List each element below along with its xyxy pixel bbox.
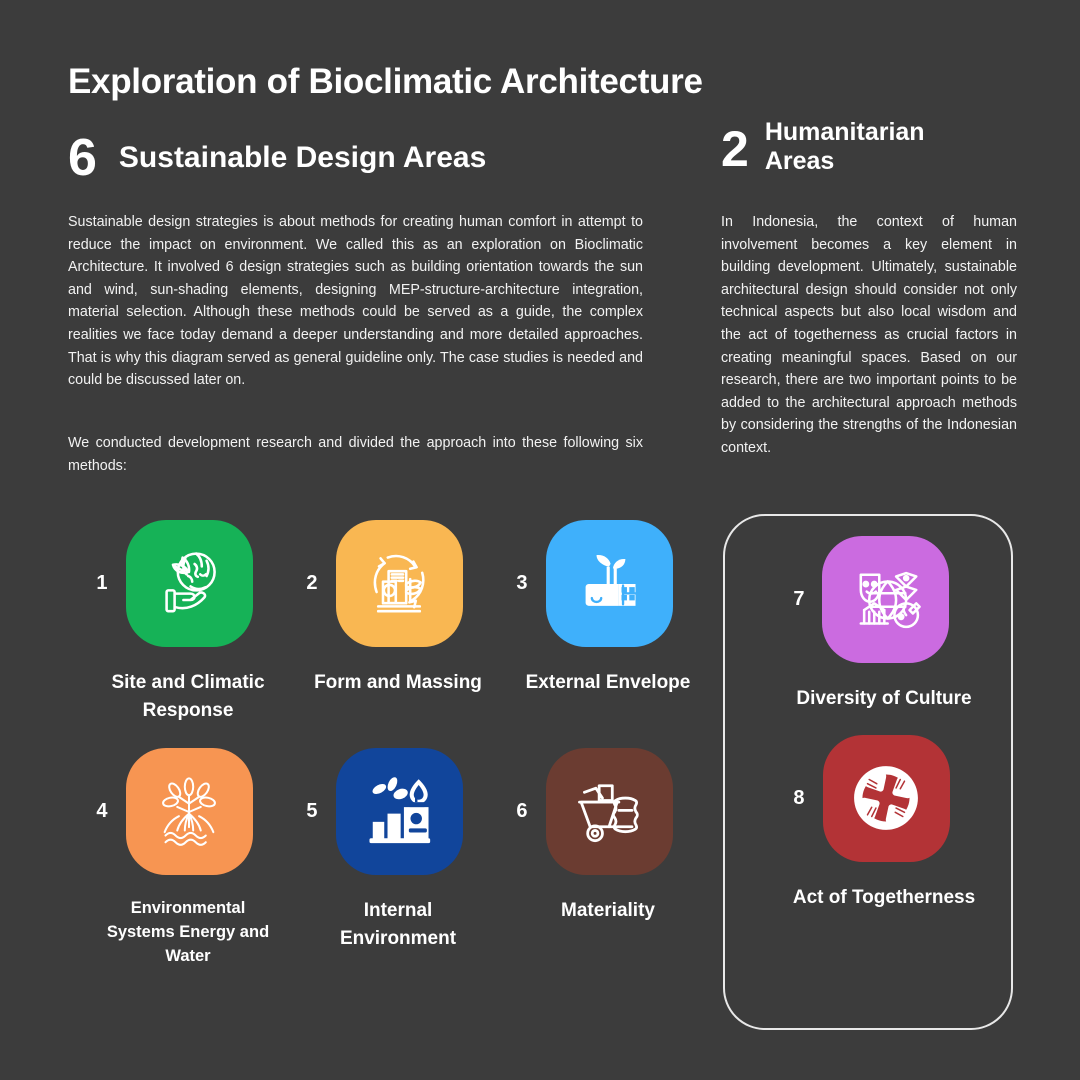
tile-7[interactable] xyxy=(822,536,949,663)
four-hands-circle-icon xyxy=(844,756,928,840)
left-paragraph-1: Sustainable design strategies is about m… xyxy=(68,211,643,392)
factory-leaves-flame-icon xyxy=(358,771,440,853)
item-label: Materiality xyxy=(561,897,655,925)
left-column-count: 6 xyxy=(68,132,97,184)
item-label: External Envelope xyxy=(526,669,691,697)
culture-mask-globe-temple-icon xyxy=(844,558,928,642)
item-number: 5 xyxy=(304,800,318,823)
plant-roots-water-icon xyxy=(147,770,231,854)
right-paragraph-1: In Indonesia, the context of human invol… xyxy=(721,211,1017,460)
grid-item-form-and-massing[interactable]: 2 xyxy=(278,520,488,724)
tile-5[interactable] xyxy=(336,748,463,875)
left-paragraph-2: We conducted development research and di… xyxy=(68,432,643,477)
grid-item-act-of-togetherness[interactable]: 8 xyxy=(765,735,975,912)
grid-item-site-and-climatic-response[interactable]: 1 xyxy=(68,520,278,724)
infographic-page: Exploration of Bioclimatic Architecture … xyxy=(0,0,1080,1080)
tile-row: 7 xyxy=(790,536,949,663)
tile-8[interactable] xyxy=(823,735,950,862)
grid-item-diversity-of-culture[interactable]: 7 xyxy=(768,536,971,713)
right-column-count: 2 xyxy=(721,124,749,174)
tile-row: 4 xyxy=(94,748,253,875)
item-number: 8 xyxy=(791,787,805,810)
tile-6[interactable] xyxy=(546,748,673,875)
item-label: Act of Togetherness xyxy=(793,884,975,912)
left-column-heading: 6 Sustainable Design Areas xyxy=(68,132,486,184)
hand-holding-globe-leaf-icon xyxy=(149,544,229,624)
building-recycle-arrows-icon xyxy=(359,544,439,624)
item-number: 3 xyxy=(514,572,528,595)
tile-4[interactable] xyxy=(126,748,253,875)
wheelbarrow-cement-bag-icon xyxy=(568,771,650,853)
item-label: Form and Massing xyxy=(314,669,482,697)
humanitarian-panel: 7 xyxy=(723,514,1013,1030)
item-number: 2 xyxy=(304,572,318,595)
grid-item-environmental-systems[interactable]: 4 xyxy=(68,748,278,969)
item-label: Diversity of Culture xyxy=(796,685,971,713)
factory-plant-sprout-icon xyxy=(570,545,648,623)
tile-3[interactable] xyxy=(546,520,673,647)
page-title: Exploration of Bioclimatic Architecture xyxy=(68,62,703,102)
tile-row: 3 xyxy=(514,520,673,647)
tile-1[interactable] xyxy=(126,520,253,647)
tile-row: 6 xyxy=(514,748,673,875)
item-label: Environmental Systems Energy and Water xyxy=(98,897,278,969)
sustainable-design-grid: 1 xyxy=(68,520,698,969)
tile-2[interactable] xyxy=(336,520,463,647)
item-number: 1 xyxy=(94,572,108,595)
grid-item-external-envelope[interactable]: 3 xyxy=(488,520,698,724)
tile-row: 1 xyxy=(94,520,253,647)
right-column-heading: 2 Humanitarian Areas xyxy=(721,118,980,176)
left-column-title: Sustainable Design Areas xyxy=(119,141,486,176)
tile-row: 2 xyxy=(304,520,463,647)
item-number: 7 xyxy=(790,588,804,611)
item-label: Site and Climatic Response xyxy=(98,669,278,724)
right-column-title: Humanitarian Areas xyxy=(765,118,980,176)
grid-item-internal-environment[interactable]: 5 xyxy=(278,748,488,969)
item-number: 4 xyxy=(94,800,108,823)
tile-row: 5 xyxy=(304,748,463,875)
item-label: Internal Environment xyxy=(308,897,488,952)
humanitarian-grid: 7 xyxy=(725,516,1015,911)
grid-item-materiality[interactable]: 6 xyxy=(488,748,698,969)
tile-row: 8 xyxy=(791,735,950,862)
item-number: 6 xyxy=(514,800,528,823)
